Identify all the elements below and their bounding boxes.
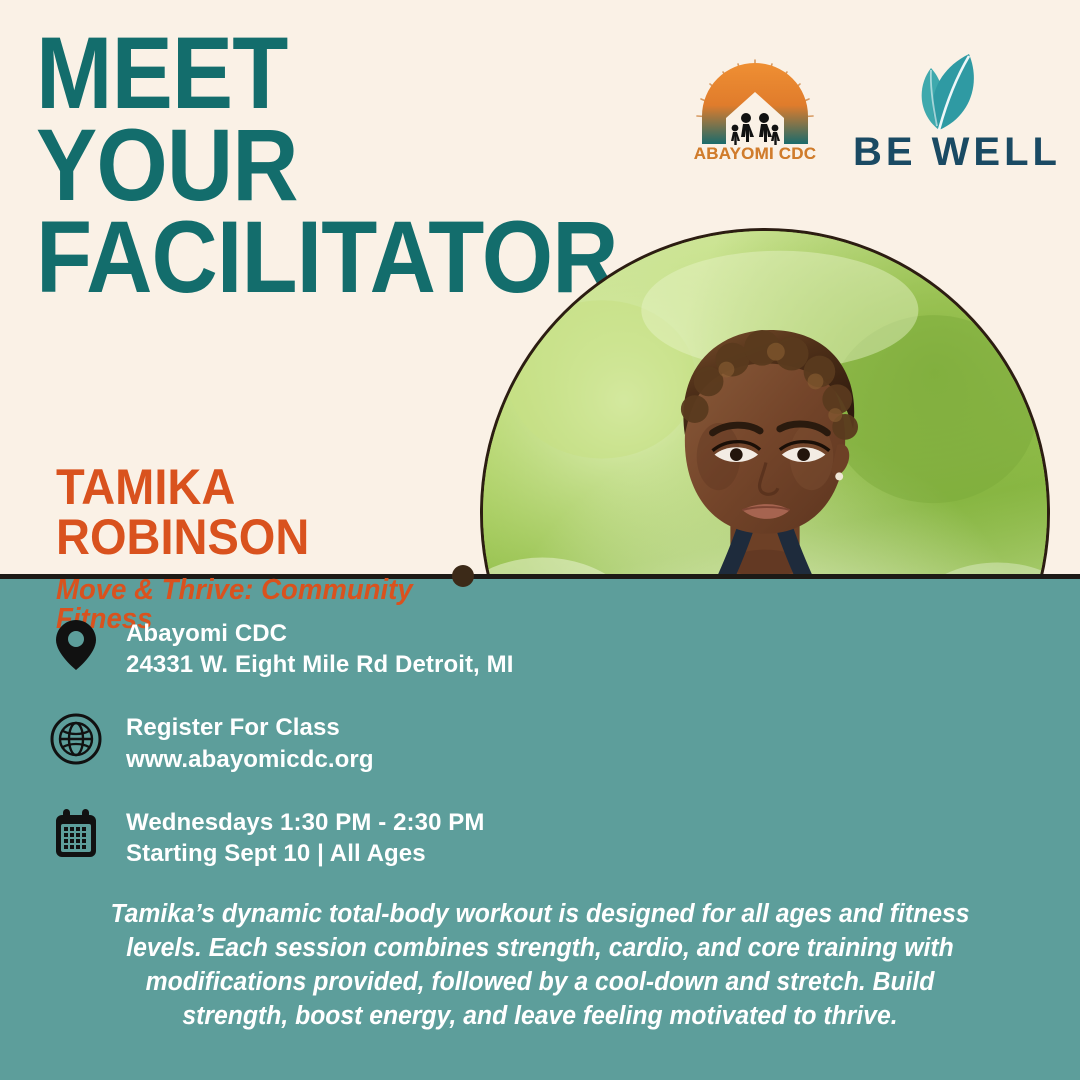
calendar-icon [48, 805, 104, 863]
detail-row-website[interactable]: Register For Class www.abayomicdc.org [48, 710, 518, 774]
flyer-canvas: MEET YOUR FACILITATOR [0, 0, 1080, 1080]
logo-strip: ABAYOMI CDC BE WELL [660, 52, 1060, 180]
abayomi-cdc-logo-label: ABAYOMI CDC [680, 144, 830, 164]
detail-text-schedule: Wednesdays 1:30 PM - 2:30 PM Starting Se… [126, 805, 485, 869]
house-arch-sun-family-icon [680, 58, 830, 148]
location-venue: Abayomi CDC [126, 618, 513, 649]
detail-text-location: Abayomi CDC 24331 W. Eight Mile Rd Detro… [126, 616, 513, 680]
schedule-start: Starting Sept 10 | All Ages [126, 838, 485, 869]
event-details-list: Abayomi CDC 24331 W. Eight Mile Rd Detro… [48, 616, 518, 899]
headline-line-1: MEET YOUR [36, 28, 540, 212]
location-address: 24331 W. Eight Mile Rd Detroit, MI [126, 649, 513, 680]
page-title: MEET YOUR FACILITATOR [36, 28, 540, 303]
register-label: Register For Class [126, 712, 374, 743]
register-url[interactable]: www.abayomicdc.org [126, 744, 374, 775]
be-well-logo: BE WELL [852, 52, 1062, 180]
globe-icon [48, 710, 104, 768]
headline-line-2: FACILITATOR [36, 212, 540, 304]
detail-row-location: Abayomi CDC 24331 W. Eight Mile Rd Detro… [48, 616, 518, 680]
facilitator-name: TAMIKA ROBINSON [56, 462, 460, 562]
detail-text-website: Register For Class www.abayomicdc.org [126, 710, 374, 774]
location-pin-icon [48, 616, 104, 674]
facilitator-name-block: TAMIKA ROBINSON Move & Thrive: Community… [56, 462, 486, 634]
detail-row-schedule: Wednesdays 1:30 PM - 2:30 PM Starting Se… [48, 805, 518, 869]
schedule-time: Wednesdays 1:30 PM - 2:30 PM [126, 807, 485, 838]
two-leaves-icon [906, 52, 1010, 132]
abayomi-cdc-logo: ABAYOMI CDC [680, 58, 830, 176]
class-description: Tamika’s dynamic total-body workout is d… [100, 898, 981, 1034]
be-well-logo-label: BE WELL [852, 130, 1062, 175]
